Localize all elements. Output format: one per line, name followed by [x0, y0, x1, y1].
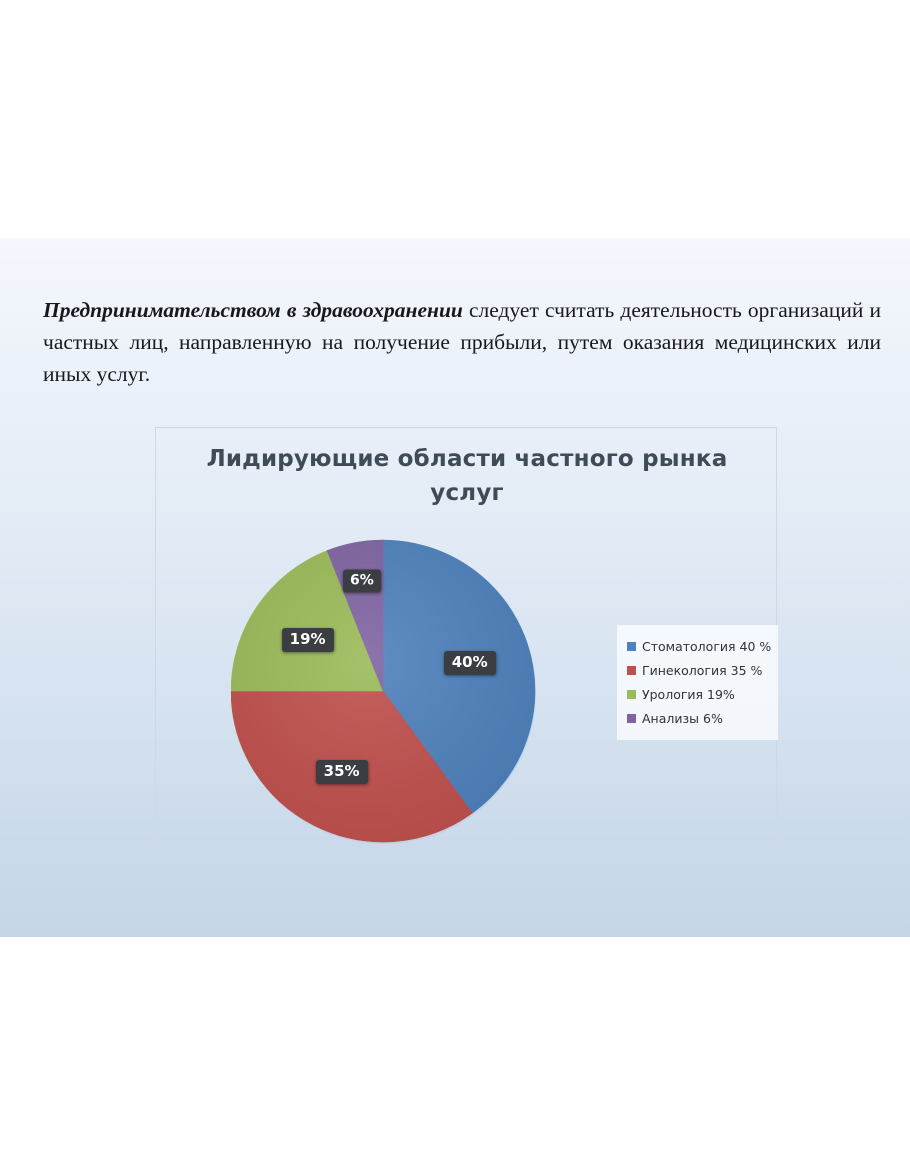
legend-item[interactable]: Урология 19% — [627, 682, 768, 706]
pie-slice-value-label: 6% — [343, 570, 381, 593]
pie-slice-value-label: 35% — [316, 760, 368, 784]
pie-slice-value-label: 40% — [444, 651, 496, 675]
lead-phrase: Предпринимательством в здравоохранении — [43, 298, 463, 322]
chart-container: Лидирующие области частного рынка услуг … — [155, 427, 777, 843]
chart-legend: Стоматология 40 %Гинекология 35 %Урологи… — [617, 625, 778, 740]
pie-svg — [231, 538, 536, 844]
presentation-slide: Предпринимательством в здравоохранении с… — [0, 238, 910, 937]
pie-slice-value-label: 19% — [282, 628, 334, 652]
legend-item-label: Стоматология 40 % — [642, 639, 771, 654]
legend-swatch-icon — [627, 714, 636, 723]
pie-chart: 40%35%19%6% — [231, 538, 536, 844]
chart-title: Лидирующие области частного рынка услуг — [186, 442, 748, 510]
legend-item[interactable]: Стоматология 40 % — [627, 634, 768, 658]
legend-item[interactable]: Гинекология 35 % — [627, 658, 768, 682]
legend-swatch-icon — [627, 690, 636, 699]
legend-item[interactable]: Анализы 6% — [627, 706, 768, 730]
legend-swatch-icon — [627, 666, 636, 675]
body-paragraph: Предпринимательством в здравоохранении с… — [43, 294, 881, 390]
legend-item-label: Гинекология 35 % — [642, 663, 762, 678]
legend-item-label: Урология 19% — [642, 687, 735, 702]
legend-item-label: Анализы 6% — [642, 711, 723, 726]
legend-swatch-icon — [627, 642, 636, 651]
